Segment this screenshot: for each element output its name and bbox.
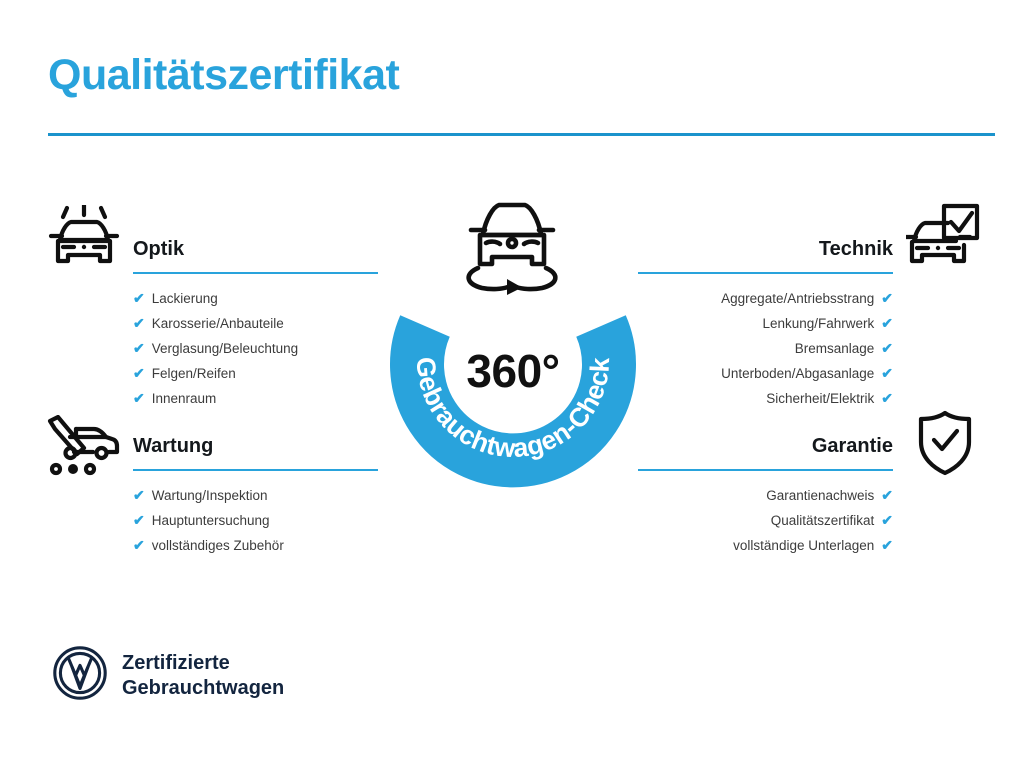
list-item-label: Hauptuntersuchung [152, 509, 270, 533]
section-title: Garantie [638, 433, 893, 459]
list-item-label: Bremsanlage [795, 337, 875, 361]
list-item-label: vollständige Unterlagen [733, 534, 874, 558]
list-item: ✔ Karosserie/Anbauteile [133, 311, 378, 336]
360-check-badge: Gebrauchtwagen-Check 360° [378, 188, 648, 488]
checklist: Garantienachweis ✔ Qualitätszertifikat ✔… [638, 483, 893, 558]
list-item-label: Unterboden/Abgasanlage [721, 362, 874, 386]
list-item: Aggregate/Antriebsstrang ✔ [638, 286, 893, 311]
check-icon: ✔ [881, 361, 893, 385]
list-item-label: Aggregate/Antriebsstrang [721, 287, 874, 311]
check-icon: ✔ [133, 286, 145, 310]
section-header: Technik [638, 236, 893, 276]
car-checkbox-icon [906, 203, 980, 278]
section-garantie: Garantie Garantienachweis ✔ Qualitätszer… [638, 433, 893, 558]
page-title: Qualitätszertifikat [48, 52, 399, 99]
list-item: ✔ Verglasung/Beleuchtung [133, 336, 378, 361]
list-item-label: Felgen/Reifen [152, 362, 236, 386]
list-item: ✔ Lackierung [133, 286, 378, 311]
list-item-label: Lenkung/Fahrwerk [762, 312, 874, 336]
certificate-page: Qualitätszertifikat [0, 0, 1024, 768]
list-item: ✔ Hauptuntersuchung [133, 508, 378, 533]
check-icon: ✔ [881, 286, 893, 310]
list-item: ✔ Wartung/Inspektion [133, 483, 378, 508]
car-shine-icon [46, 205, 122, 280]
volkswagen-logo-icon [52, 645, 108, 706]
section-divider [638, 272, 893, 275]
footer-logo: Zertifizierte Gebrauchtwagen [52, 645, 284, 706]
list-item-label: Lackierung [152, 287, 218, 311]
section-wartung: Wartung ✔ Wartung/Inspektion ✔ Hauptunte… [133, 433, 378, 558]
check-icon: ✔ [133, 386, 145, 410]
section-title: Technik [638, 236, 893, 262]
list-item: ✔ vollständiges Zubehör [133, 533, 378, 558]
check-icon: ✔ [133, 361, 145, 385]
check-icon: ✔ [881, 311, 893, 335]
list-item-label: vollständiges Zubehör [152, 534, 284, 558]
list-item-label: Verglasung/Beleuchtung [152, 337, 298, 361]
list-item-label: Innenraum [152, 387, 217, 411]
section-technik: Technik Aggregate/Antriebsstrang ✔ Lenku… [638, 236, 893, 411]
section-header: Garantie [638, 433, 893, 473]
title-divider [48, 133, 995, 136]
check-icon: ✔ [133, 508, 145, 532]
car-rotate-360-icon [456, 188, 568, 301]
shield-check-icon [916, 410, 974, 481]
check-icon: ✔ [133, 483, 145, 507]
section-divider [133, 272, 378, 275]
list-item-label: Garantienachweis [766, 484, 874, 508]
list-item: ✔ Felgen/Reifen [133, 361, 378, 386]
section-title: Optik [133, 236, 378, 262]
section-header: Optik [133, 236, 378, 276]
list-item: Unterboden/Abgasanlage ✔ [638, 361, 893, 386]
section-optik: Optik ✔ Lackierung ✔ Karosserie/Anbautei… [133, 236, 378, 411]
list-item-label: Wartung/Inspektion [152, 484, 268, 508]
list-item: Sicherheit/Elektrik ✔ [638, 386, 893, 411]
section-divider [133, 469, 378, 472]
list-item-label: Sicherheit/Elektrik [766, 387, 874, 411]
check-icon: ✔ [881, 533, 893, 557]
footer-logo-line1: Zertifizierte [122, 651, 284, 676]
list-item: vollständige Unterlagen ✔ [638, 533, 893, 558]
checklist: ✔ Wartung/Inspektion ✔ Hauptuntersuchung… [133, 483, 378, 558]
section-divider [638, 469, 893, 472]
check-icon: ✔ [881, 508, 893, 532]
check-icon: ✔ [881, 483, 893, 507]
footer-logo-line2: Gebrauchtwagen [122, 676, 284, 701]
check-icon: ✔ [881, 336, 893, 360]
list-item: Lenkung/Fahrwerk ✔ [638, 311, 893, 336]
list-item: Bremsanlage ✔ [638, 336, 893, 361]
list-item-label: Qualitätszertifikat [771, 509, 875, 533]
footer-logo-text: Zertifizierte Gebrauchtwagen [122, 651, 284, 701]
section-header: Wartung [133, 433, 378, 473]
list-item: Qualitätszertifikat ✔ [638, 508, 893, 533]
check-icon: ✔ [133, 336, 145, 360]
check-icon: ✔ [133, 311, 145, 335]
list-item: ✔ Innenraum [133, 386, 378, 411]
checklist: Aggregate/Antriebsstrang ✔ Lenkung/Fahrw… [638, 286, 893, 411]
car-service-tool-icon [46, 415, 122, 482]
section-title: Wartung [133, 433, 378, 459]
checklist: ✔ Lackierung ✔ Karosserie/Anbauteile ✔ V… [133, 286, 378, 411]
list-item: Garantienachweis ✔ [638, 483, 893, 508]
check-icon: ✔ [881, 386, 893, 410]
check-icon: ✔ [133, 533, 145, 557]
list-item-label: Karosserie/Anbauteile [152, 312, 284, 336]
badge-center-label: 360° [378, 344, 648, 398]
